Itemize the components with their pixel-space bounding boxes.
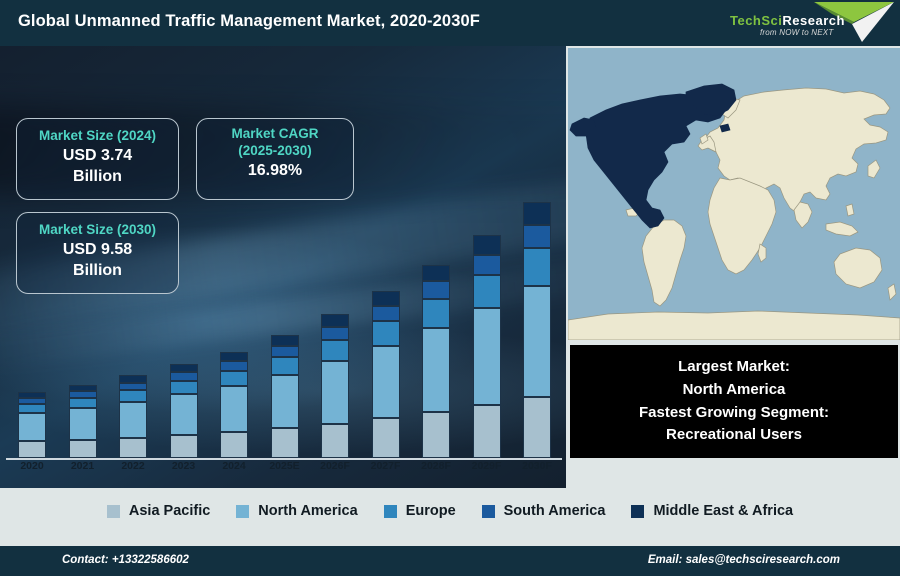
x-tick-2022: 2022: [105, 460, 161, 472]
chart-panel: 202020212022202320242025E2026F2027F2028F…: [0, 46, 566, 488]
legend-item-asia-pacific[interactable]: Asia Pacific: [107, 503, 210, 519]
bar-segment-north-america: [473, 308, 501, 405]
legend-swatch-icon: [631, 505, 644, 518]
x-tick-2029F: 2029F: [459, 460, 515, 472]
x-tick-2023: 2023: [156, 460, 212, 472]
legend-label: Asia Pacific: [129, 503, 210, 519]
bar-segment-europe: [119, 390, 147, 402]
bar-segment-north-america: [119, 402, 147, 438]
legend-label: South America: [504, 503, 606, 519]
footer-bar: Contact: +13322586602 Email: sales@techs…: [0, 546, 900, 576]
x-tick-2024: 2024: [206, 460, 262, 472]
bar-segment-europe: [271, 357, 299, 375]
bar-2022: [119, 375, 147, 458]
logo-tagline: from NOW to NEXT: [760, 28, 833, 37]
stat-card-market-size-2024: Market Size (2024) USD 3.74 Billion: [16, 118, 179, 200]
legend-swatch-icon: [384, 505, 397, 518]
bar-segment-south-america: [422, 281, 450, 299]
bar-segment-europe: [523, 248, 551, 286]
bar-segment-north-america: [170, 394, 198, 435]
bar-segment-asia-pacific: [473, 405, 501, 458]
stat-card-market-cagr: Market CAGR (2025-2030) 16.98%: [196, 118, 354, 200]
bar-segment-north-america: [69, 408, 97, 440]
callout-line-1: Largest Market:: [678, 356, 790, 379]
legend-label: Middle East & Africa: [653, 503, 793, 519]
bar-2023: [170, 364, 198, 458]
bar-segment-middle-east-africa: [523, 202, 551, 225]
bar-segment-north-america: [18, 413, 46, 441]
stat-value-line2: Billion: [17, 260, 178, 282]
bar-segment-middle-east-africa: [220, 352, 248, 361]
x-tick-2025E: 2025E: [257, 460, 313, 472]
bar-segment-north-america: [422, 328, 450, 412]
bar-2030F: [523, 202, 551, 458]
bar-segment-europe: [18, 404, 46, 414]
legend-label: Europe: [406, 503, 456, 519]
bar-segment-south-america: [321, 327, 349, 340]
bar-segment-europe: [473, 275, 501, 308]
stat-value-line1: USD 3.74: [17, 145, 178, 167]
x-tick-2026F: 2026F: [307, 460, 363, 472]
bar-segment-north-america: [523, 286, 551, 397]
bar-segment-middle-east-africa: [271, 335, 299, 346]
legend-swatch-icon: [482, 505, 495, 518]
bar-segment-north-america: [220, 386, 248, 432]
bar-segment-asia-pacific: [18, 441, 46, 458]
x-tick-2028F: 2028F: [408, 460, 464, 472]
bar-segment-asia-pacific: [523, 397, 551, 458]
bar-segment-asia-pacific: [321, 424, 349, 458]
bar-segment-south-america: [220, 361, 248, 371]
bar-2025E: [271, 335, 299, 458]
legend-label: North America: [258, 503, 357, 519]
bar-segment-asia-pacific: [372, 418, 400, 458]
bar-segment-asia-pacific: [271, 428, 299, 458]
footer-email[interactable]: Email: sales@techsciresearch.com: [648, 554, 840, 566]
callout-line-2: North America: [683, 379, 786, 402]
footer-contact[interactable]: Contact: +13322586602: [62, 554, 189, 566]
stat-value-line1: USD 9.58: [17, 239, 178, 261]
world-map-graphic: [568, 48, 900, 340]
logo-name-part1: TechSci: [730, 13, 782, 28]
callout-line-3: Fastest Growing Segment:: [639, 402, 829, 425]
legend-swatch-icon: [107, 505, 120, 518]
bar-segment-asia-pacific: [170, 435, 198, 458]
bar-segment-middle-east-africa: [372, 291, 400, 306]
bar-segment-europe: [69, 398, 97, 409]
bar-2021: [69, 385, 97, 458]
stat-label: Market Size (2030): [17, 222, 178, 239]
world-map: [568, 48, 900, 340]
bar-segment-middle-east-africa: [321, 314, 349, 327]
stat-label: Market Size (2024): [17, 128, 178, 145]
bar-segment-south-america: [473, 255, 501, 275]
infographic-root: Global Unmanned Traffic Management Marke…: [0, 0, 900, 576]
bar-segment-south-america: [170, 372, 198, 381]
x-tick-2021: 2021: [55, 460, 111, 472]
bar-2029F: [473, 235, 501, 458]
bar-segment-europe: [321, 340, 349, 361]
bar-segment-north-america: [321, 361, 349, 423]
stat-value-line2: Billion: [17, 166, 178, 188]
bar-segment-south-america: [69, 391, 97, 398]
bar-segment-south-america: [523, 225, 551, 248]
stat-label-line2: (2025-2030): [197, 143, 353, 160]
x-tick-2020: 2020: [4, 460, 60, 472]
page-title: Global Unmanned Traffic Management Marke…: [18, 12, 480, 31]
logo-wordmark: TechSciResearch: [730, 13, 845, 28]
bar-segment-north-america: [271, 375, 299, 428]
bar-segment-south-america: [271, 346, 299, 357]
bar-segment-north-america: [372, 346, 400, 418]
bar-segment-middle-east-africa: [422, 265, 450, 282]
bar-segment-asia-pacific: [119, 438, 147, 458]
header-bar: Global Unmanned Traffic Management Marke…: [0, 0, 900, 46]
bar-segment-asia-pacific: [220, 432, 248, 458]
bar-segment-europe: [372, 321, 400, 346]
legend-item-south-america[interactable]: South America: [482, 503, 606, 519]
x-tick-2030F: 2030F: [509, 460, 565, 472]
legend-swatch-icon: [236, 505, 249, 518]
callout-line-4: Recreational Users: [666, 424, 802, 447]
stat-value-line1: 16.98%: [197, 160, 353, 182]
bar-segment-europe: [422, 299, 450, 328]
stat-label-line1: Market CAGR: [197, 126, 353, 143]
bar-segment-europe: [220, 371, 248, 387]
bar-segment-asia-pacific: [422, 412, 450, 459]
bar-segment-middle-east-africa: [119, 375, 147, 382]
logo-name-part2: Research: [782, 13, 845, 28]
bar-segment-middle-east-africa: [170, 364, 198, 372]
callout-box: Largest Market: North America Fastest Gr…: [570, 345, 898, 458]
bar-segment-asia-pacific: [69, 440, 97, 458]
bar-segment-europe: [170, 381, 198, 395]
bar-segment-south-america: [372, 306, 400, 321]
bar-2027F: [372, 291, 400, 458]
bar-2026F: [321, 314, 349, 458]
bar-2020: [18, 392, 46, 458]
legend-item-middle-east-africa[interactable]: Middle East & Africa: [631, 503, 793, 519]
legend-item-north-america[interactable]: North America: [236, 503, 357, 519]
legend-item-europe[interactable]: Europe: [384, 503, 456, 519]
stat-card-market-size-2030: Market Size (2030) USD 9.58 Billion: [16, 212, 179, 294]
chart-legend: Asia PacificNorth AmericaEuropeSouth Ame…: [0, 489, 900, 533]
x-tick-2027F: 2027F: [358, 460, 414, 472]
bar-segment-middle-east-africa: [473, 235, 501, 255]
bar-2028F: [422, 265, 450, 458]
bar-2024: [220, 352, 248, 458]
company-logo[interactable]: TechSciResearch from NOW to NEXT: [714, 0, 896, 46]
bar-segment-south-america: [119, 383, 147, 390]
